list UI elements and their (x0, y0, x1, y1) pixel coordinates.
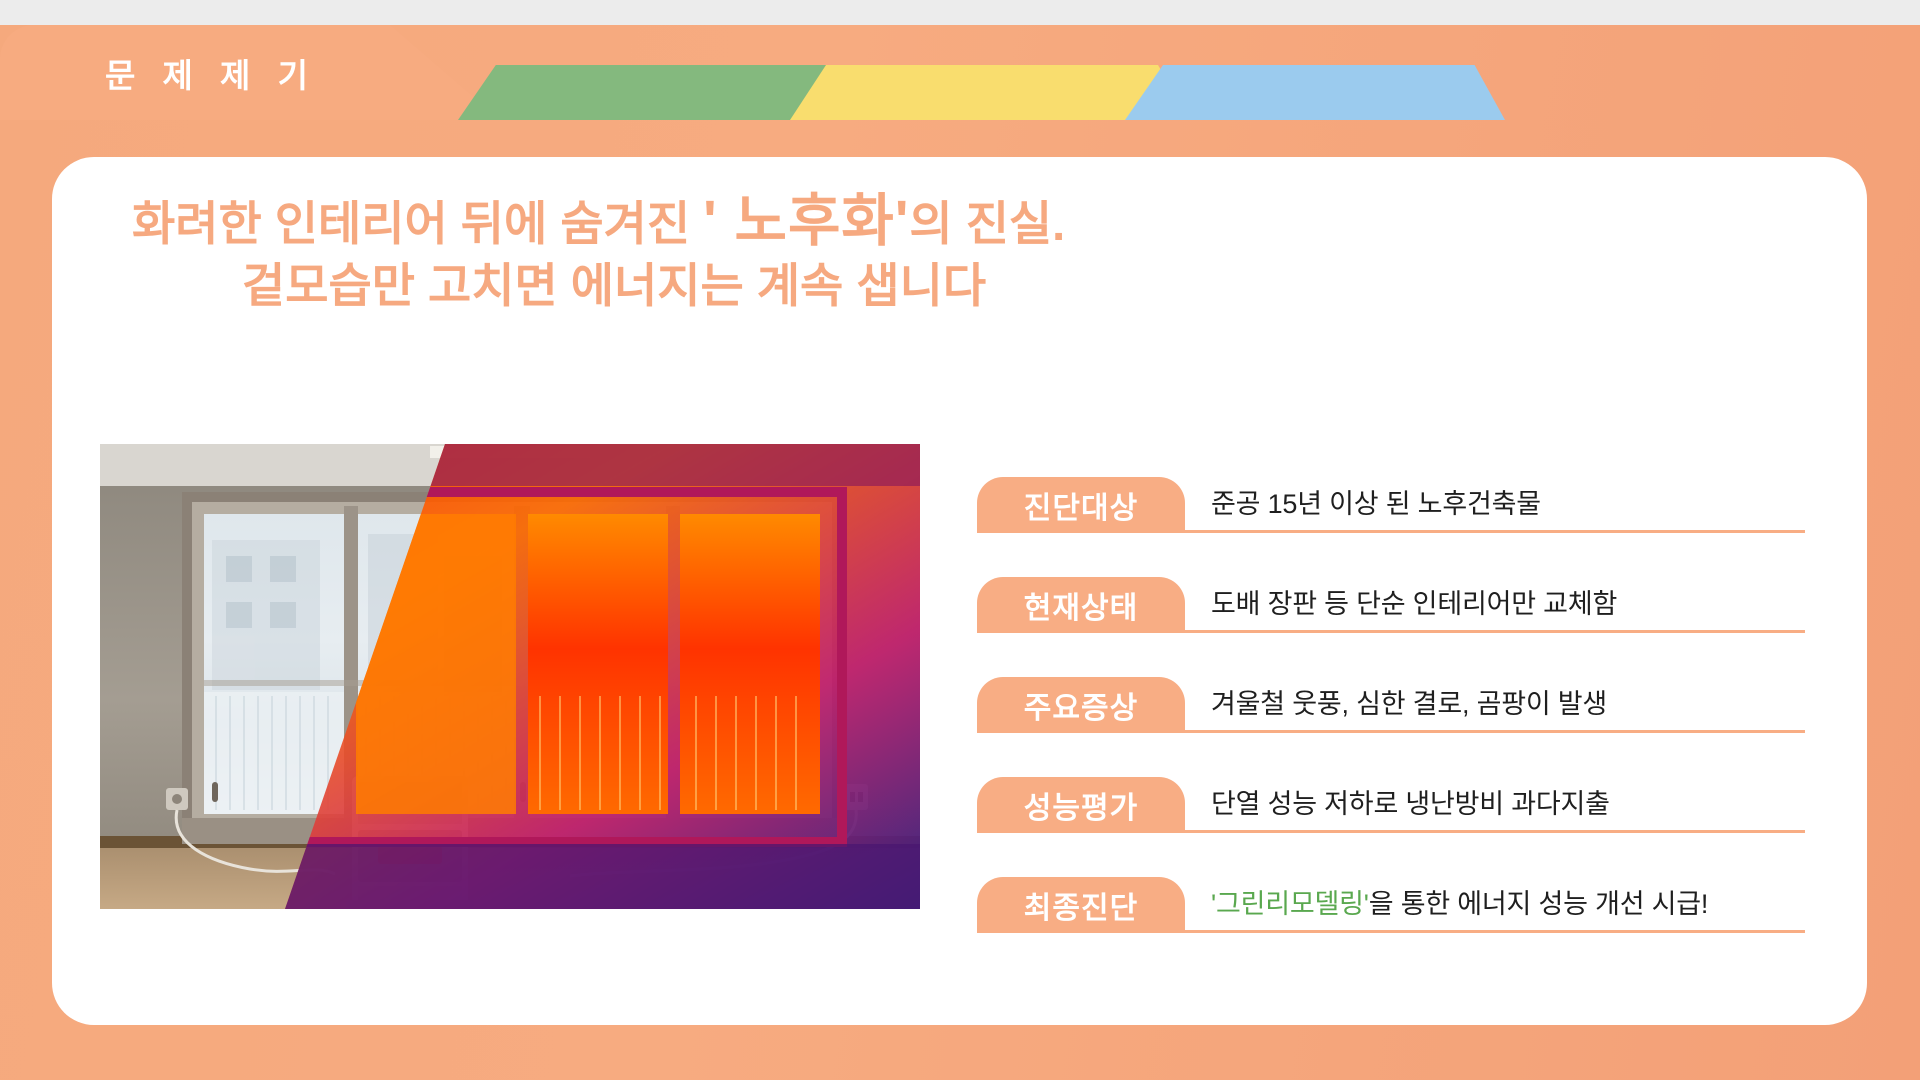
info-value-current-state: 도배 장판 등 단순 인테리어만 교체함 (1185, 582, 1807, 633)
tab-strip: 문 제 제 기 (0, 25, 1920, 120)
tab-secondary-blue[interactable] (1125, 65, 1505, 120)
tab-problem-statement[interactable]: 문 제 제 기 (0, 25, 500, 120)
info-row-main-symptoms: 주요증상 겨울철 웃풍, 심한 결로, 곰팡이 발생 (977, 633, 1807, 733)
info-underline (1185, 930, 1805, 933)
tab-problem-statement-label: 문 제 제 기 (105, 49, 317, 97)
info-row-current-state: 현재상태 도배 장판 등 단순 인테리어만 교체함 (977, 533, 1807, 633)
diagnosis-info-list: 진단대상 준공 15년 이상 된 노후건축물 현재상태 도배 장판 등 단순 인… (977, 433, 1807, 933)
tab-secondary-yellow[interactable] (790, 65, 1190, 120)
heading-line-1-suffix: 의 진실. (909, 197, 1065, 250)
content-card: 화려한 인테리어 뒤에 숨겨진 ' 노후화'의 진실. 겉모습만 고치면 에너지… (52, 157, 1867, 1025)
info-badge-final-diagnosis: 최종진단 (977, 877, 1185, 933)
info-badge-main-symptoms: 주요증상 (977, 677, 1185, 733)
room-photo-illustration (100, 444, 920, 909)
info-value-performance-rating: 단열 성능 저하로 냉난방비 과다지출 (1185, 782, 1807, 833)
info-row-final-diagnosis: 최종진단 '그린리모델링'을 통한 에너지 성능 개선 시급! (977, 833, 1807, 933)
info-badge-current-state: 현재상태 (977, 577, 1185, 633)
info-badge-diagnosis-target: 진단대상 (977, 477, 1185, 533)
heading-line-1: 화려한 인테리어 뒤에 숨겨진 ' 노후화'의 진실. (132, 187, 1812, 257)
thermal-overlay-room-photo (100, 444, 920, 909)
info-row-diagnosis-target: 진단대상 준공 15년 이상 된 노후건축물 (977, 433, 1807, 533)
info-row-performance-rating: 성능평가 단열 성능 저하로 냉난방비 과다지출 (977, 733, 1807, 833)
info-value-final-diagnosis: '그린리모델링'을 통한 에너지 성능 개선 시급! (1185, 882, 1807, 933)
info-badge-performance-rating: 성능평가 (977, 777, 1185, 833)
info-value-diagnosis-target: 준공 15년 이상 된 노후건축물 (1185, 482, 1807, 533)
slide-root: 문 제 제 기 화려한 인테리어 뒤에 숨겨진 ' 노후화'의 진실. 겉모습만… (0, 0, 1920, 1080)
heading-line-1-prefix: 화려한 인테리어 뒤에 숨겨진 (132, 197, 703, 250)
heading-line-2: 겉모습만 고치면 에너지는 계속 샙니다 (132, 257, 1812, 314)
final-diagnosis-keyword: '그린리모델링' (1211, 889, 1369, 919)
heading-emphasis-word: ' 노후화' (703, 189, 909, 253)
info-value-main-symptoms: 겨울철 웃풍, 심한 결로, 곰팡이 발생 (1185, 682, 1807, 733)
final-diagnosis-rest: 을 통한 에너지 성능 개선 시급! (1369, 889, 1709, 919)
page-title: 화려한 인테리어 뒤에 숨겨진 ' 노후화'의 진실. 겉모습만 고치면 에너지… (132, 187, 1812, 314)
